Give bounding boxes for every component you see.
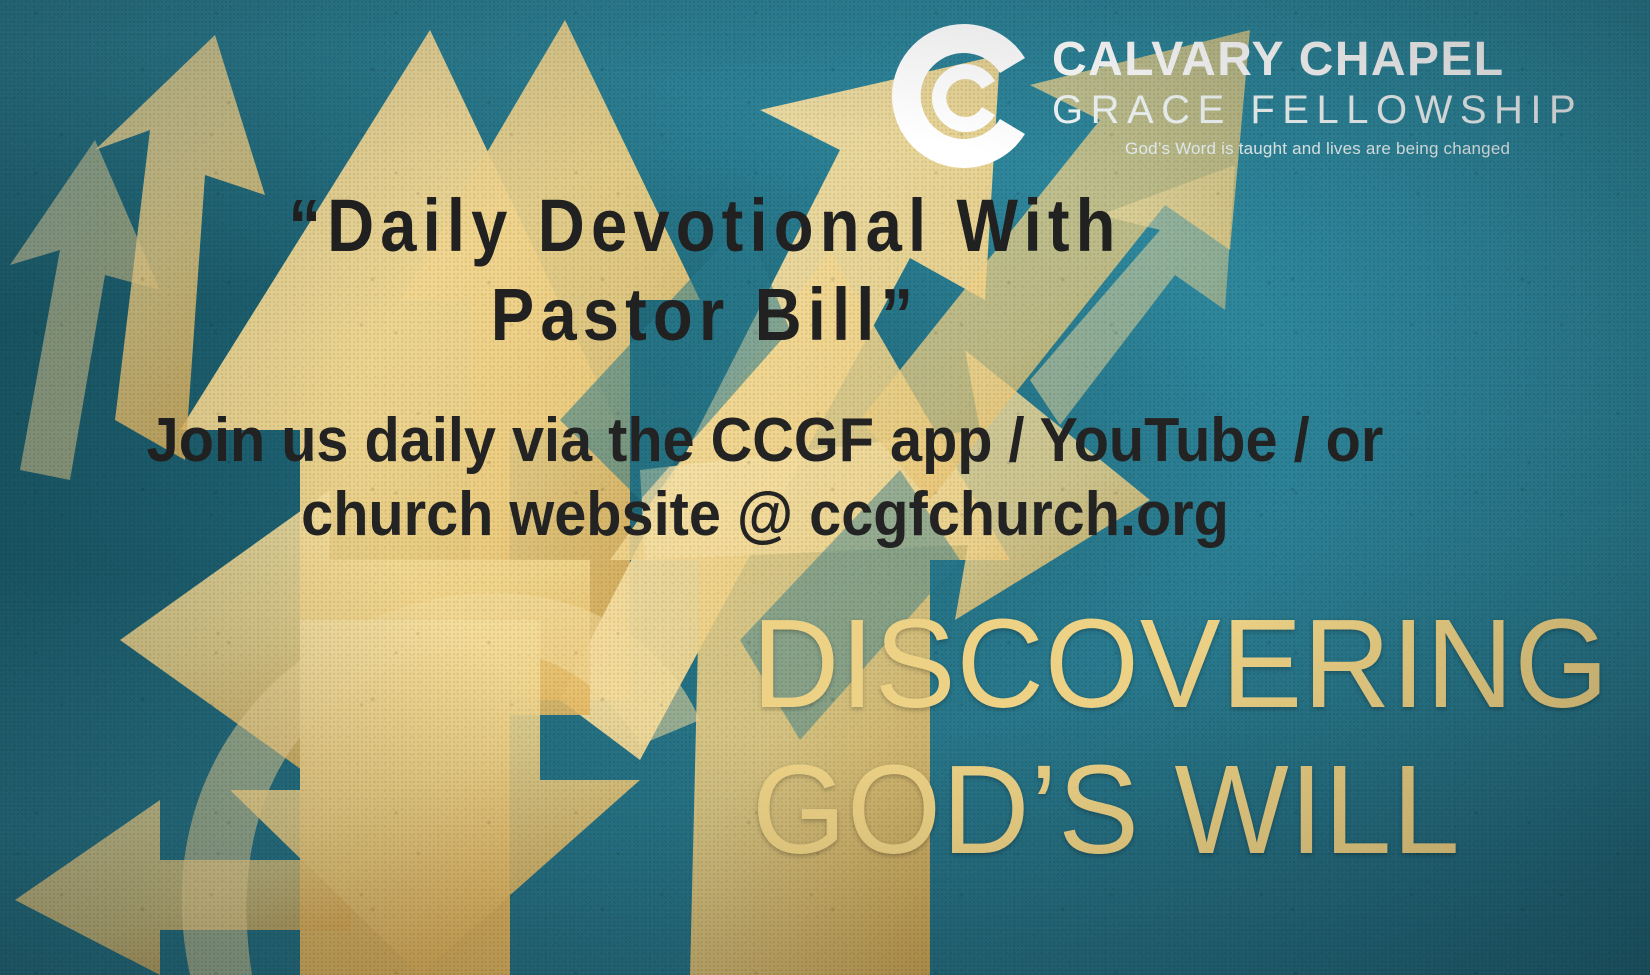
logo-name-line-1: CALVARY CHAPEL (1052, 36, 1505, 84)
body-copy: Join us daily via the CCGF app / YouTube… (100, 404, 1430, 553)
logo-tagline: God’s Word is taught and lives are being… (1125, 140, 1510, 157)
series-title-line-2: GOD’S WILL (752, 742, 1635, 878)
page-title: “Daily Devotional With Pastor Bill” (137, 182, 1272, 360)
series-title-line-1: DISCOVERING (752, 596, 1635, 732)
logo-name-line-2: GRACE FELLOWSHIP (1052, 88, 1583, 133)
slide-canvas: DISCOVERING GOD’S WILL CALVARY CHAPEL GR… (0, 0, 1650, 975)
series-title: DISCOVERING GOD’S WILL (752, 596, 1635, 878)
church-logo: CALVARY CHAPEL GRACE FELLOWSHIP God’s Wo… (888, 14, 1648, 179)
logo-wordmark: CALVARY CHAPEL GRACE FELLOWSHIP God’s Wo… (1052, 14, 1583, 157)
calvary-chapel-c-icon (888, 20, 1040, 172)
